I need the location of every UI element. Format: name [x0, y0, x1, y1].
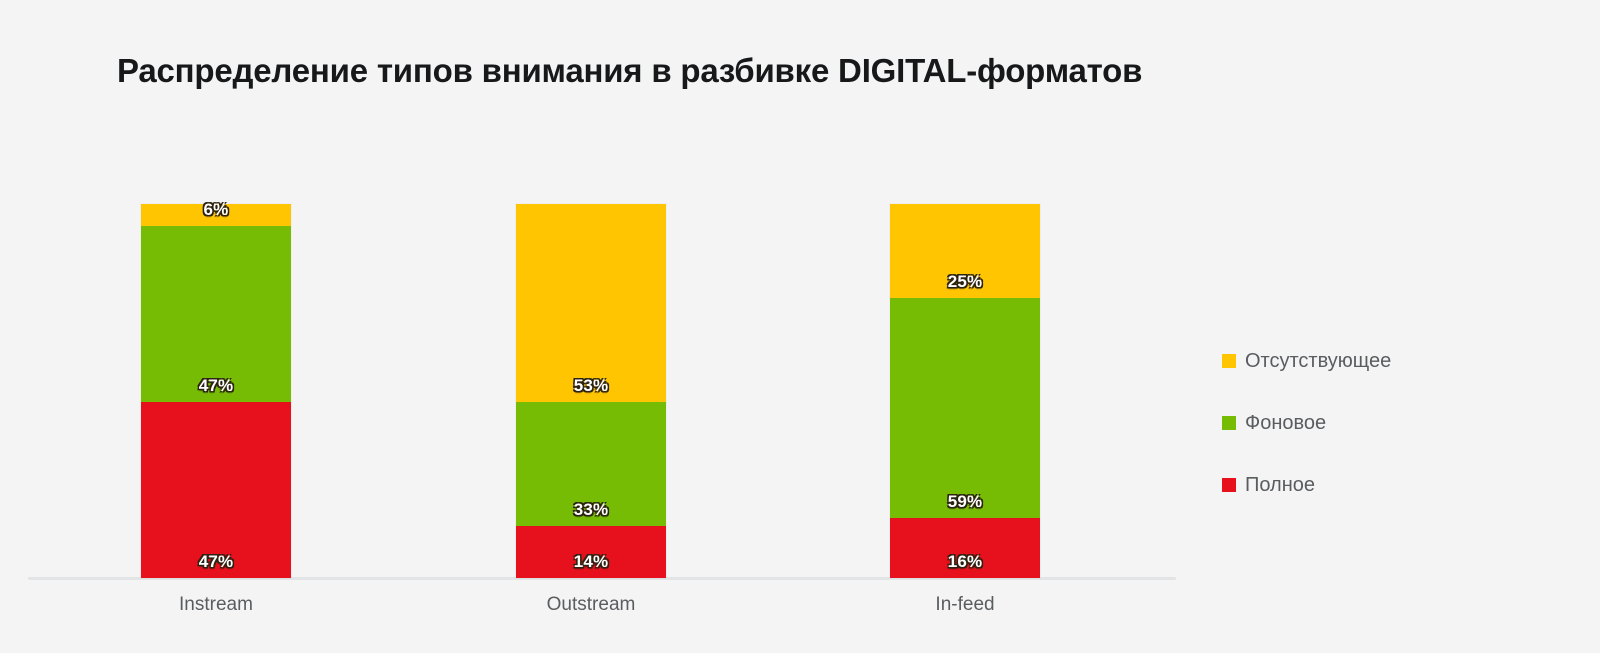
bar-segment-label: 47%	[141, 376, 291, 396]
bar-group-outstream[interactable]: 53% 33% 14% Outstream	[516, 204, 666, 578]
bar-segment-full[interactable]: 14%	[516, 526, 666, 578]
legend-item-absent[interactable]: Отсутствующее	[1222, 330, 1522, 392]
chart-container: Распределение типов внимания в разбивке …	[0, 0, 1600, 653]
bar-group-instream[interactable]: 6% 47% 47% Instream	[141, 204, 291, 578]
plot-area: 6% 47% 47% Instream 53% 33%	[0, 0, 1600, 653]
legend-item-label: Фоновое	[1245, 412, 1326, 434]
bar-segment-absent[interactable]: 53%	[516, 204, 666, 402]
bar-segment-full[interactable]: 47%	[141, 402, 291, 578]
stacked-bar[interactable]: 53% 33% 14%	[516, 204, 666, 578]
bar-segment-passive[interactable]: 33%	[516, 402, 666, 525]
bar-segment-label: 59%	[890, 492, 1040, 512]
x-axis-label-in-feed: In-feed	[830, 594, 1100, 616]
bar-segment-label: 33%	[516, 500, 666, 520]
bar-segment-label: 6%	[141, 200, 291, 220]
bar-group-in-feed[interactable]: 25% 59% 16% In-feed	[890, 204, 1040, 578]
legend-item-full[interactable]: Полное	[1222, 454, 1522, 516]
bar-segment-label: 16%	[890, 552, 1040, 572]
bar-segment-label: 47%	[141, 552, 291, 572]
legend-swatch-icon	[1222, 416, 1236, 430]
legend-item-label: Отсутствующее	[1245, 350, 1391, 372]
legend-swatch-icon	[1222, 478, 1236, 492]
legend-swatch-icon	[1222, 354, 1236, 368]
stacked-bar[interactable]: 6% 47% 47%	[141, 204, 291, 578]
chart-legend: Отсутствующее Фоновое Полное	[1222, 330, 1522, 516]
bar-segment-full[interactable]: 16%	[890, 518, 1040, 578]
bar-segment-absent[interactable]: 6%	[141, 204, 291, 226]
legend-item-passive[interactable]: Фоновое	[1222, 392, 1522, 454]
stacked-bar[interactable]: 25% 59% 16%	[890, 204, 1040, 578]
legend-item-label: Полное	[1245, 474, 1315, 496]
x-axis-label-outstream: Outstream	[456, 594, 726, 616]
x-axis-label-instream: Instream	[81, 594, 351, 616]
bar-segment-label: 25%	[890, 272, 1040, 292]
bar-segment-label: 14%	[516, 552, 666, 572]
bar-segment-passive[interactable]: 59%	[890, 298, 1040, 519]
bar-segment-absent[interactable]: 25%	[890, 204, 1040, 298]
bar-segment-passive[interactable]: 47%	[141, 226, 291, 402]
bar-segment-label: 53%	[516, 376, 666, 396]
